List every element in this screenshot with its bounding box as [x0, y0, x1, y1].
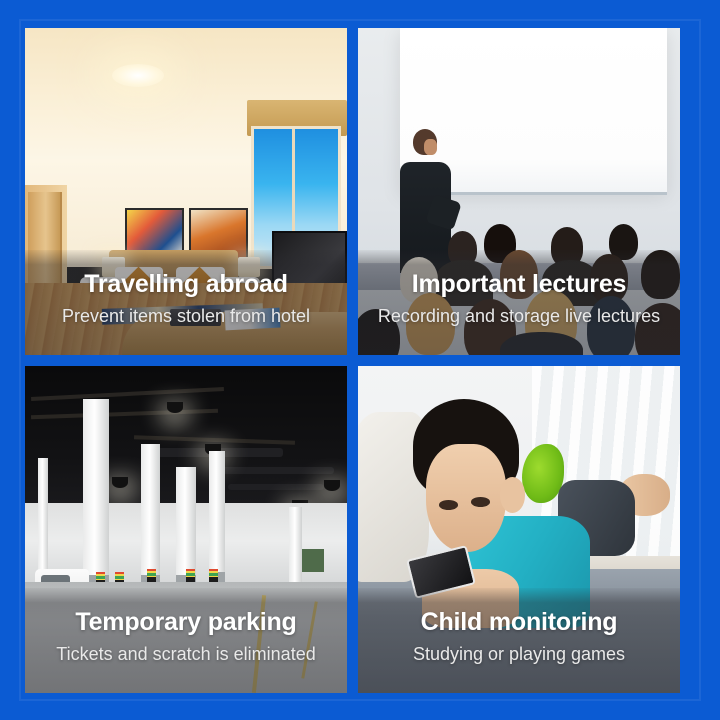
panel-caption: Temporary parking Tickets and scratch is… [25, 588, 347, 693]
panel-temporary-parking[interactable]: Temporary parking Tickets and scratch is… [25, 366, 347, 693]
panel-subtitle: Tickets and scratch is eliminated [56, 642, 315, 666]
use-case-grid: Travelling abroad Prevent items stolen f… [25, 28, 691, 693]
panel-child-monitoring[interactable]: Child monitoring Studying or playing gam… [358, 366, 680, 693]
panel-title: Child monitoring [421, 607, 618, 637]
panel-subtitle: Prevent items stolen from hotel [62, 304, 310, 328]
panel-important-lectures[interactable]: Important lectures Recording and storage… [358, 28, 680, 355]
panel-caption: Important lectures Recording and storage… [358, 250, 680, 355]
panel-title: Travelling abroad [84, 269, 288, 299]
panel-title: Important lectures [412, 269, 627, 299]
panel-title: Temporary parking [75, 607, 296, 637]
panel-caption: Child monitoring Studying or playing gam… [358, 588, 680, 693]
panel-subtitle: Studying or playing games [413, 642, 625, 666]
panel-caption: Travelling abroad Prevent items stolen f… [25, 250, 347, 355]
panel-travelling-abroad[interactable]: Travelling abroad Prevent items stolen f… [25, 28, 347, 355]
panel-subtitle: Recording and storage live lectures [378, 304, 660, 328]
use-case-poster: Travelling abroad Prevent items stolen f… [0, 0, 720, 720]
